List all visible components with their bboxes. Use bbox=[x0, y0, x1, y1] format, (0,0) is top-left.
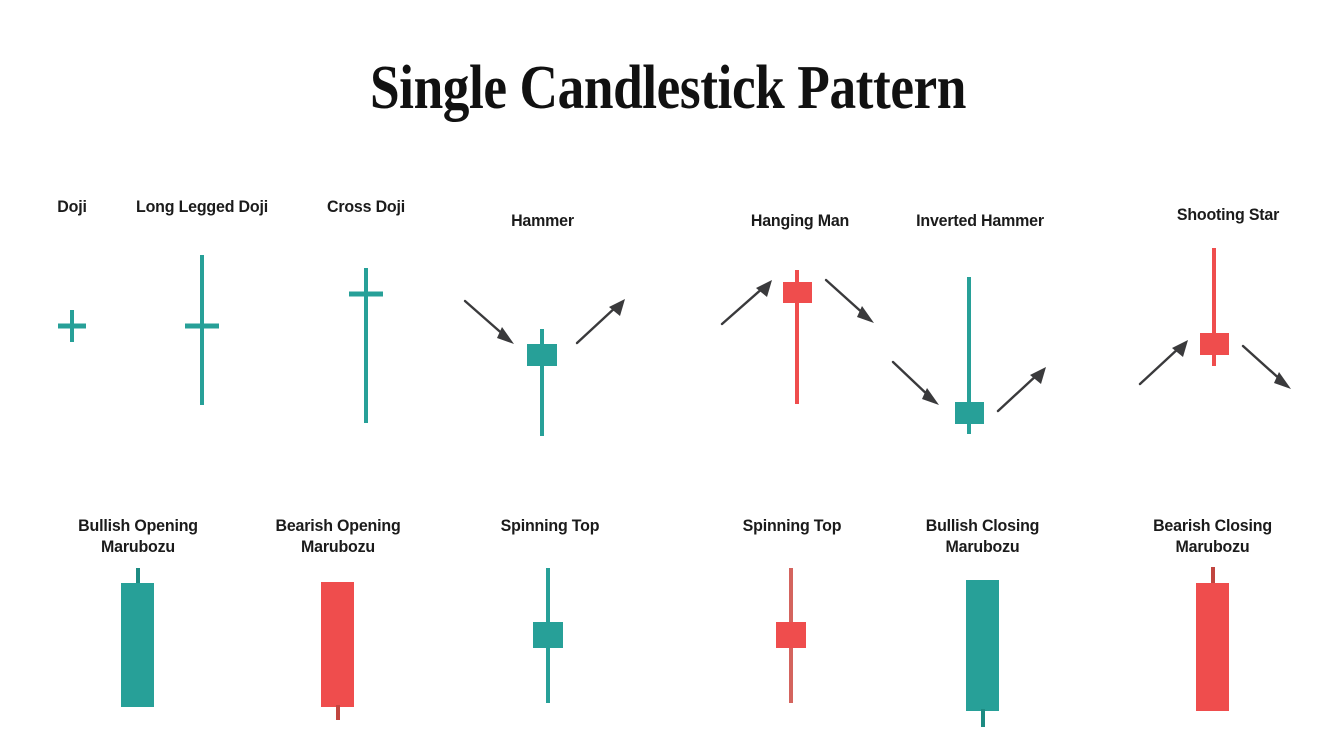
candlestick-bullish-opening-marubozu bbox=[58, 505, 218, 735]
candlestick-shooting-star bbox=[1128, 196, 1328, 416]
candlestick-inverted-hammer bbox=[880, 196, 1080, 446]
pattern-bullish-closing-marubozu: Bullish Closing Marubozu bbox=[900, 505, 1065, 740]
candlestick-long-legged-doji bbox=[122, 196, 282, 426]
candlestick-spinning-top-bearish bbox=[712, 505, 872, 735]
bullish-closing-marubozu-body bbox=[966, 580, 999, 711]
bullish-opening-marubozu-body bbox=[121, 583, 154, 707]
pattern-inverted-hammer: Inverted Hammer bbox=[880, 196, 1080, 446]
hanging-man-body bbox=[783, 282, 812, 303]
candlestick-cross-doji bbox=[291, 196, 441, 436]
candlestick-hanging-man bbox=[700, 196, 900, 426]
hammer-left-arrow bbox=[465, 301, 514, 344]
inverted-hammer-right-arrow bbox=[998, 367, 1046, 411]
pattern-hanging-man: Hanging Man bbox=[700, 196, 900, 426]
candlestick-doji bbox=[12, 196, 132, 426]
pattern-long-legged-doji: Long Legged Doji bbox=[122, 196, 282, 426]
spinning-top-bearish-body bbox=[776, 622, 806, 648]
shooting-star-right-arrow bbox=[1243, 346, 1291, 389]
inverted-hammer-body bbox=[955, 402, 984, 424]
inverted-hammer-left-arrow bbox=[893, 362, 939, 405]
pattern-shooting-star: Shooting Star bbox=[1128, 196, 1328, 416]
bearish-opening-marubozu-body bbox=[321, 582, 354, 707]
pattern-bearish-closing-marubozu: Bearish Closing Marubozu bbox=[1130, 505, 1295, 735]
pattern-bullish-opening-marubozu: Bullish Opening Marubozu bbox=[58, 505, 218, 735]
pattern-spinning-top-bearish: Spinning Top bbox=[712, 505, 872, 735]
hammer-right-arrow bbox=[577, 299, 625, 343]
candlestick-bullish-closing-marubozu bbox=[900, 505, 1065, 740]
hanging-man-left-arrow bbox=[722, 280, 772, 324]
spinning-top-bullish-body bbox=[533, 622, 563, 648]
page-title: Single Candlestick Pattern bbox=[94, 52, 1243, 124]
bearish-closing-marubozu-body bbox=[1196, 583, 1229, 711]
pattern-spinning-top-bullish: Spinning Top bbox=[470, 505, 630, 735]
candlestick-spinning-top-bullish bbox=[470, 505, 630, 735]
shooting-star-body bbox=[1200, 333, 1229, 355]
shooting-star-left-arrow bbox=[1140, 340, 1188, 384]
candlestick-bearish-closing-marubozu bbox=[1130, 505, 1295, 735]
hanging-man-right-arrow bbox=[826, 280, 874, 323]
pattern-hammer: Hammer bbox=[445, 196, 640, 446]
pattern-doji: Doji bbox=[12, 196, 132, 426]
candlestick-hammer bbox=[445, 196, 640, 446]
candlestick-bearish-opening-marubozu bbox=[258, 505, 418, 735]
hammer-body bbox=[527, 344, 557, 366]
pattern-bearish-opening-marubozu: Bearish Opening Marubozu bbox=[258, 505, 418, 735]
pattern-cross-doji: Cross Doji bbox=[291, 196, 441, 436]
candlestick-pattern-infographic: Single Candlestick Pattern Doji Long Leg… bbox=[0, 0, 1336, 745]
